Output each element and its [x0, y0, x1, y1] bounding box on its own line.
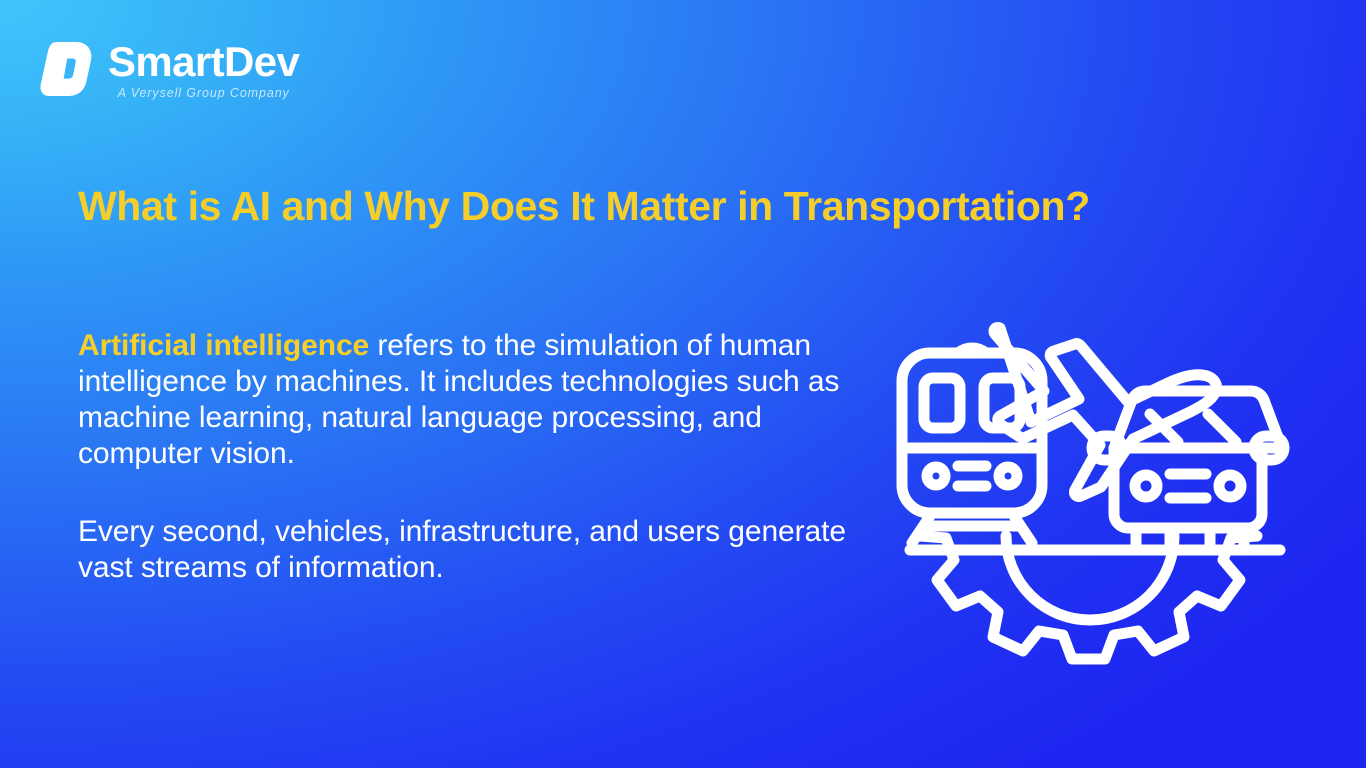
- paragraph-2-text: Every second, vehicles, infrastructure, …: [78, 515, 846, 584]
- paragraph-2: Every second, vehicles, infrastructure, …: [78, 514, 868, 586]
- brand-text-block: SmartDev A Verysell Group Company: [108, 38, 299, 100]
- train-icon: [902, 348, 1042, 543]
- body-copy-block: Artificial intelligence refers to the si…: [78, 328, 868, 586]
- paragraph-1: Artificial intelligence refers to the si…: [78, 328, 868, 472]
- brand-name: SmartDev: [108, 40, 299, 84]
- smartdev-d-mark-icon: [40, 40, 94, 98]
- paragraph-1-lead-in: Artificial intelligence: [78, 329, 369, 362]
- slide-title: What is AI and Why Does It Matter in Tra…: [78, 182, 1293, 230]
- brand-logo[interactable]: SmartDev A Verysell Group Company: [40, 38, 299, 100]
- slide-canvas: SmartDev A Verysell Group Company What i…: [0, 0, 1366, 768]
- transportation-gear-illustration: [888, 268, 1292, 672]
- brand-tagline: A Verysell Group Company: [118, 86, 290, 100]
